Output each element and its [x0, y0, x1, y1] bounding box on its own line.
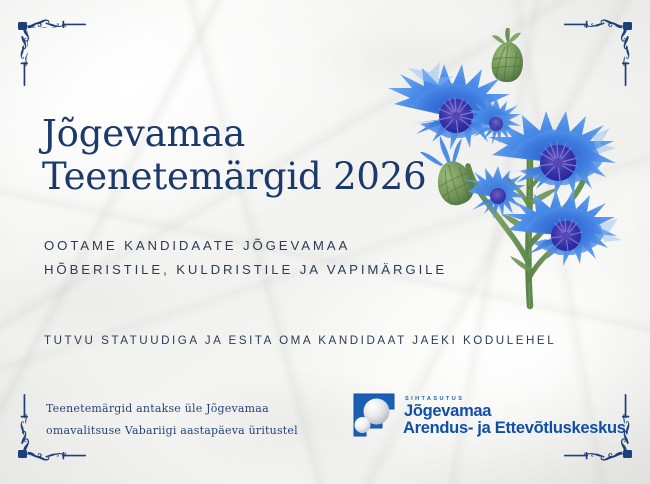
- footnote-text: Teenetemärgid antakse üle Jõgevamaa omav…: [46, 398, 298, 442]
- corner-flourish-icon-top-left: [14, 14, 90, 88]
- organisation-logo[interactable]: SIHTASUTUS Jõgevamaa Arendus- ja Ettevõt…: [352, 392, 626, 438]
- logo-mark-circles-icon: [352, 392, 396, 438]
- call-to-action-text: TUTVU STATUUDIGA JA ESITA OMA KANDIDAAT …: [44, 334, 556, 347]
- page-title: Jõgevamaa Teenetemärgid 2026: [42, 113, 426, 199]
- logo-line-1: Jõgevamaa: [404, 403, 626, 420]
- poster-canvas: Jõgevamaa Teenetemärgid 2026 OOTAME KAND…: [0, 0, 650, 484]
- logo-line-2: Arendus- ja Ettevõtluskeskus: [403, 420, 626, 438]
- poster-subtitle: OOTAME KANDIDAATE JÕGEVAMAA HÕBERISTILE,…: [44, 234, 447, 283]
- logo-wordmark: SIHTASUTUS Jõgevamaa Arendus- ja Ettevõt…: [403, 396, 626, 438]
